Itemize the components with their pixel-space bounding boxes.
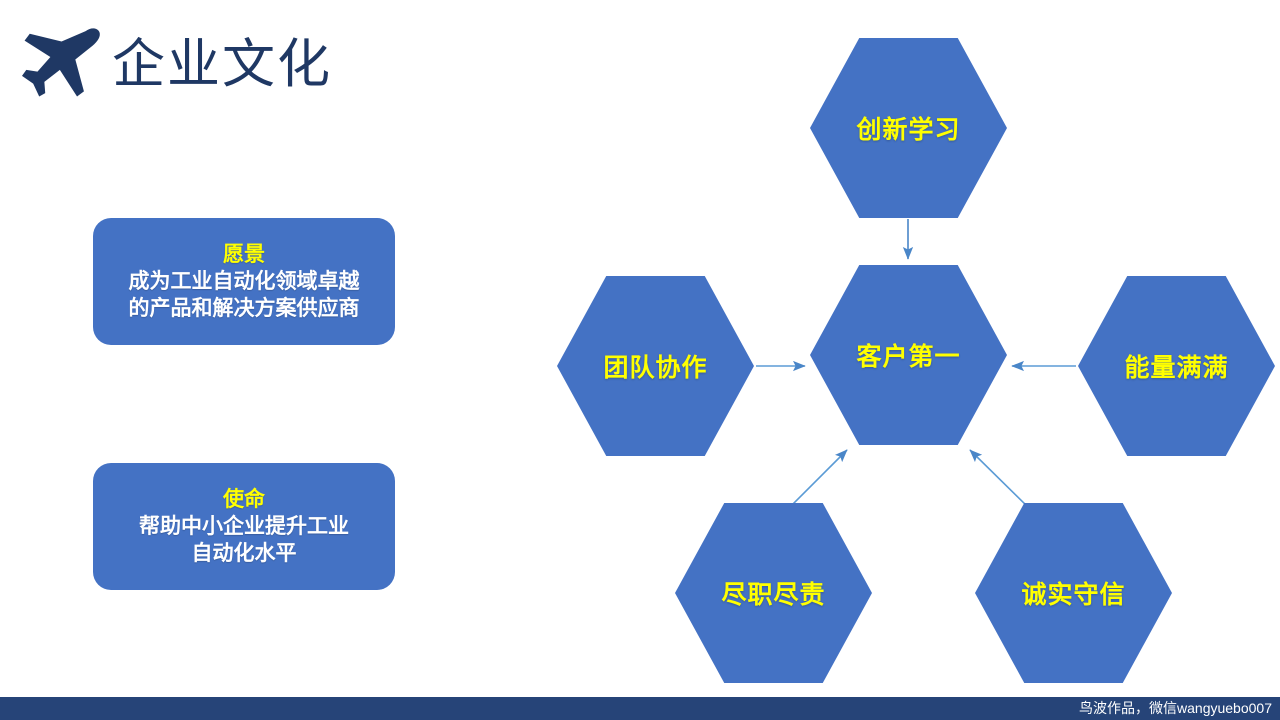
vision-card-title: 愿景 [223, 241, 265, 268]
airplane-icon [22, 24, 108, 102]
hexagon-label: 团队协作 [603, 348, 707, 384]
page-title: 企业文化 [112, 22, 332, 108]
arrow-bottomleft-to-center [785, 450, 847, 512]
hexagon-diagram: 创新学习 团队协作 客户第一 能量满满 尽职尽责 诚实守信 [520, 0, 1280, 700]
hexagon-label: 诚实守信 [1021, 575, 1125, 611]
mission-card: 使命 帮助中小企业提升工业 自动化水平 [93, 463, 395, 590]
vision-card: 愿景 成为工业自动化领域卓越 的产品和解决方案供应商 [93, 218, 395, 345]
hexagon-label: 能量满满 [1124, 348, 1228, 384]
footer-credit-text: 鸟波作品，微信wangyuebo007 [1079, 697, 1272, 720]
hexagon-label: 创新学习 [856, 110, 960, 146]
arrow-bottomright-to-center [970, 450, 1033, 512]
mission-card-title: 使命 [223, 486, 265, 513]
vision-card-body: 成为工业自动化领域卓越 的产品和解决方案供应商 [129, 268, 360, 322]
hexagon-label: 尽职尽责 [721, 575, 825, 611]
hexagon-label: 客户第一 [856, 337, 960, 373]
footer-bar: 鸟波作品，微信wangyuebo007 [0, 697, 1280, 720]
mission-card-body: 帮助中小企业提升工业 自动化水平 [139, 513, 349, 567]
